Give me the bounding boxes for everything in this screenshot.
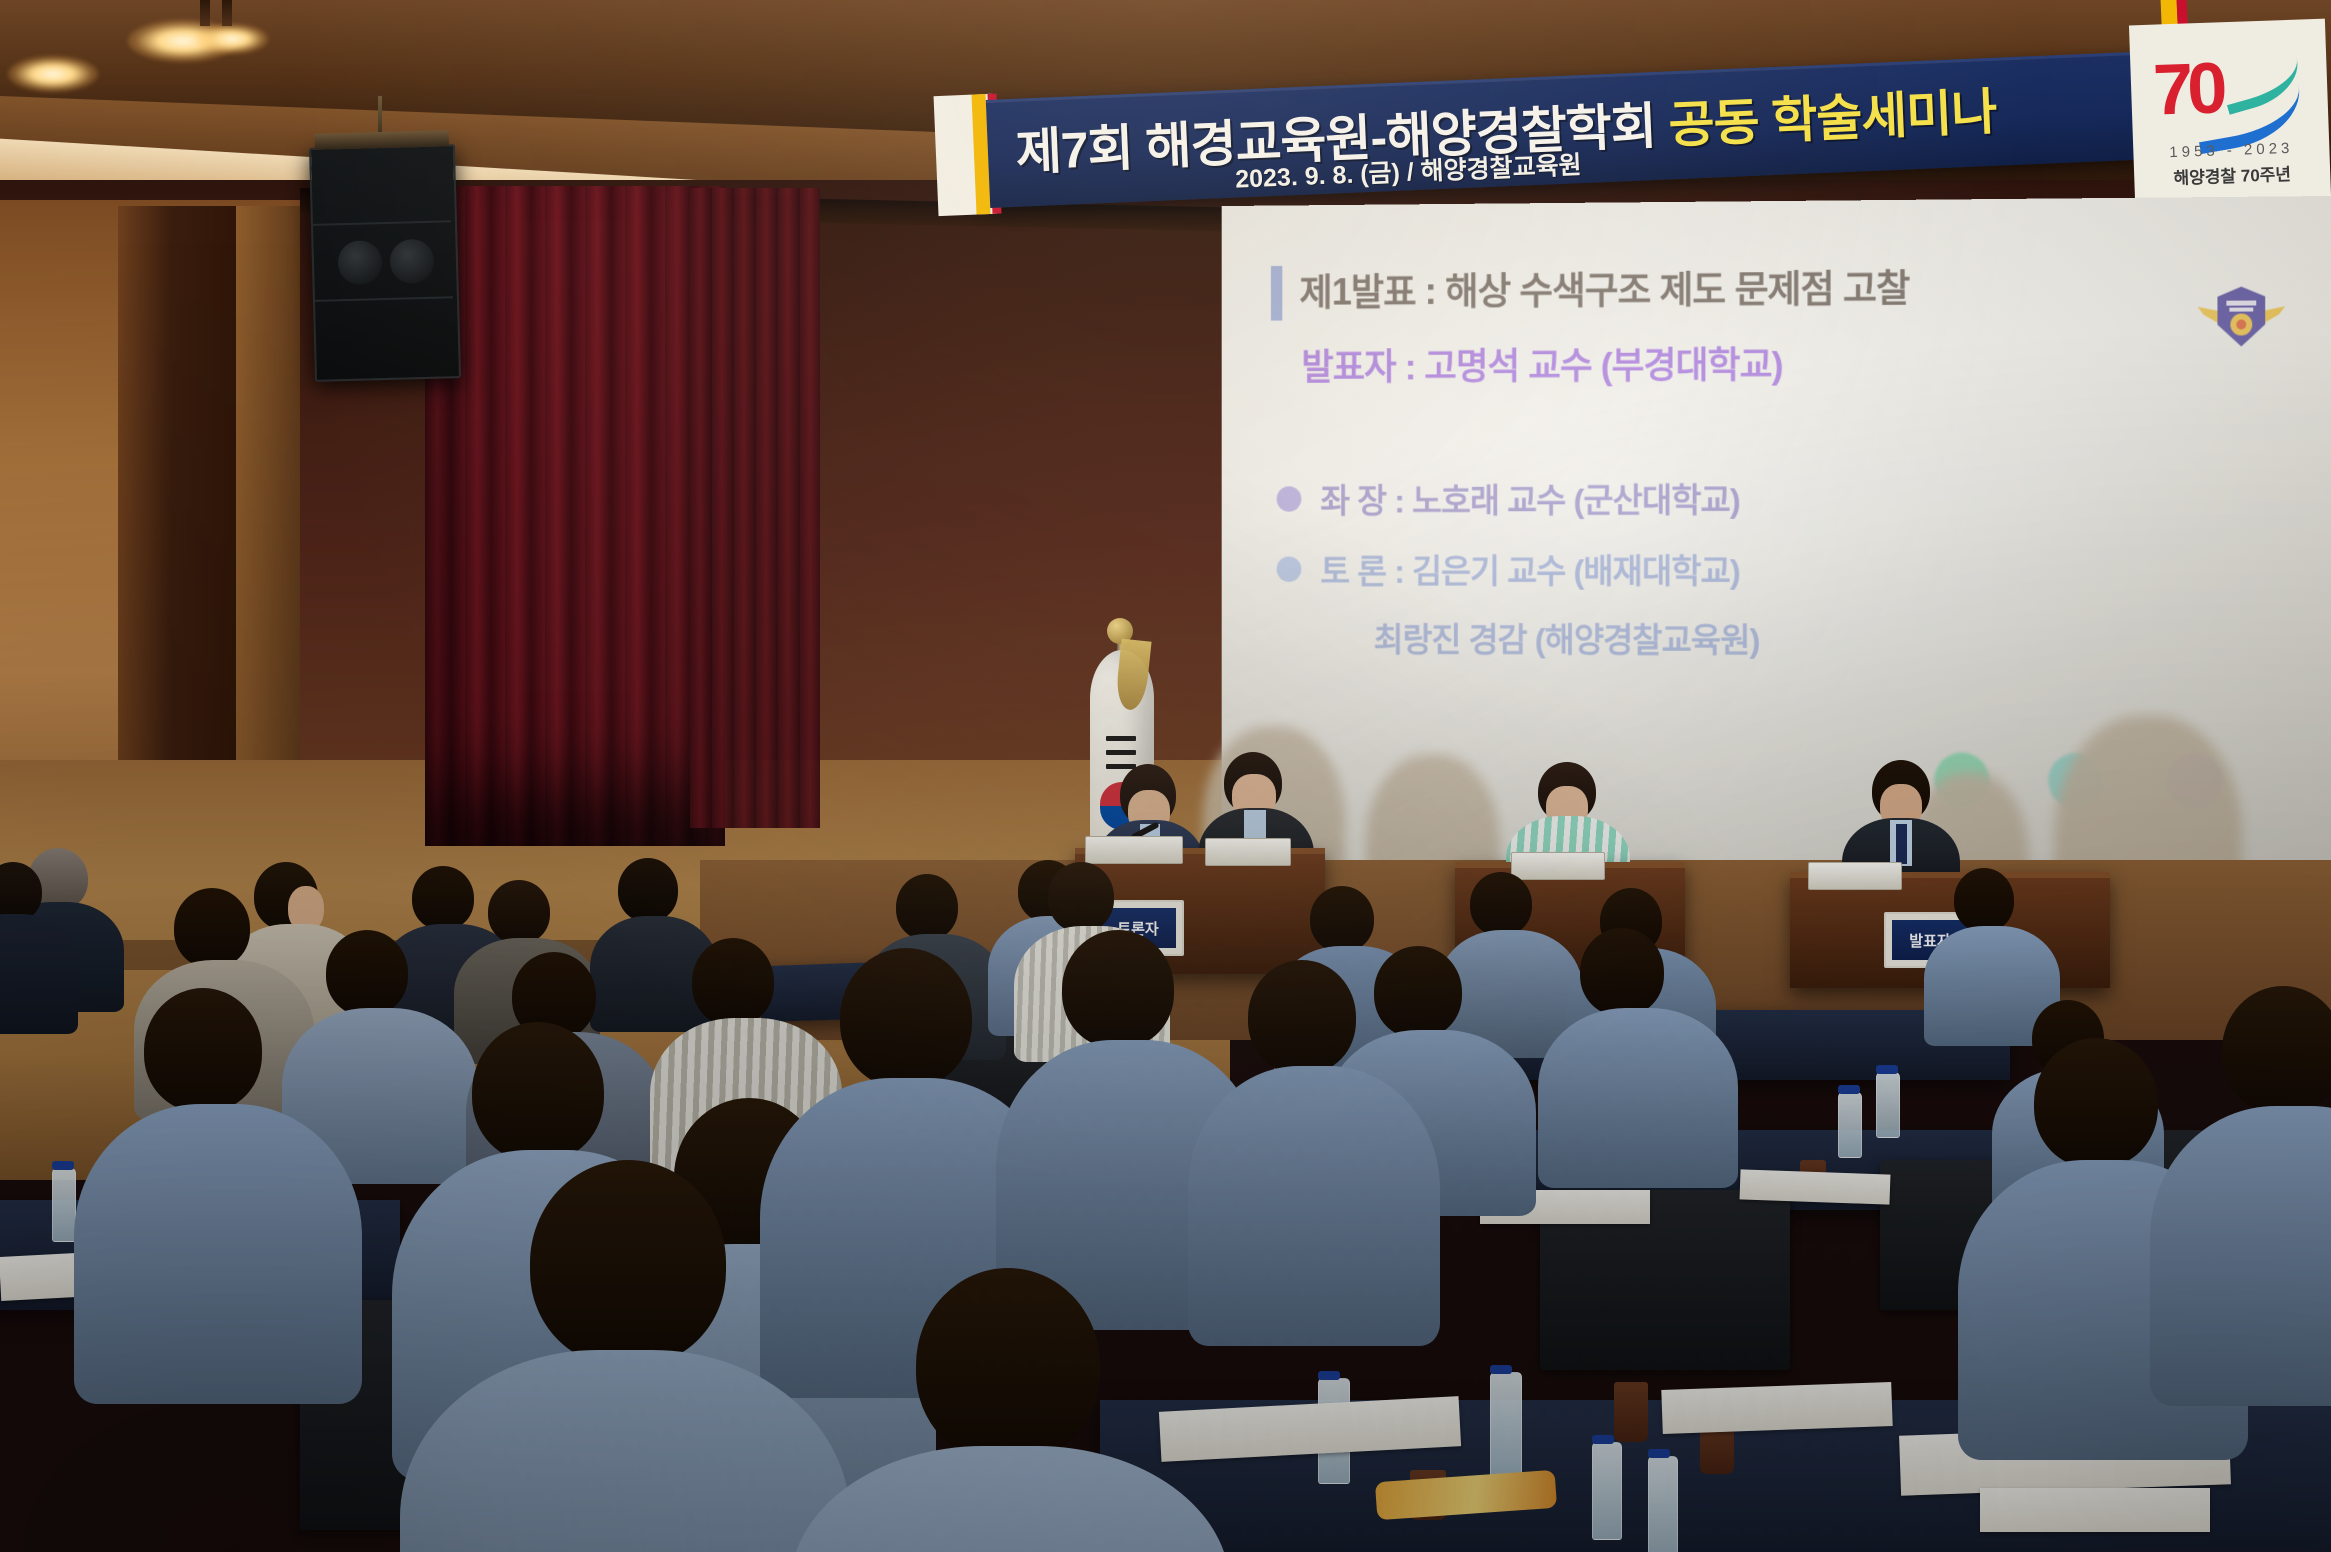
- water-bottle: [1592, 1442, 1622, 1540]
- slide-accent-bar: [1271, 266, 1282, 321]
- nameplate: [1808, 862, 1902, 890]
- nameplate: [1511, 852, 1605, 880]
- flag-trigram-bar: [1106, 736, 1136, 741]
- attendee-head: [472, 1022, 604, 1162]
- attendee-torso: [1538, 1008, 1738, 1188]
- water-bottle: [1838, 1092, 1862, 1158]
- paper-cup: [1614, 1382, 1648, 1442]
- bottle-cap: [1318, 1371, 1340, 1380]
- document: [1661, 1382, 1892, 1434]
- slide-bullet-chair: 좌 장 : 노호래 교수 (군산대학교): [1277, 473, 1740, 522]
- bullet-label: 최랑진 경감 (해양경찰교육원): [1374, 613, 1760, 662]
- speaker-cone-icon: [389, 239, 434, 284]
- stage-curtain: [690, 188, 820, 828]
- ceiling-downlight-icon: [196, 24, 268, 54]
- water-bottle: [1876, 1072, 1900, 1138]
- speaker-rib: [313, 220, 451, 226]
- attendee-head: [1374, 946, 1462, 1038]
- attendee-head: [1248, 960, 1356, 1074]
- bottle-cap: [1648, 1449, 1670, 1458]
- attendee-head: [1310, 886, 1374, 952]
- attendee-head: [488, 880, 550, 944]
- slide-presenter: 발표자 : 고명석 교수 (부경대학교): [1301, 335, 1782, 390]
- bottle-cap: [1592, 1435, 1614, 1444]
- water-bottle: [1490, 1372, 1522, 1482]
- attendee-head: [2034, 1038, 2158, 1168]
- anniversary-caption: 해양경찰 70주년: [2134, 159, 2331, 191]
- speaker-cone-icon: [337, 240, 382, 285]
- stage-curtain: [425, 186, 725, 846]
- attendee-head: [840, 948, 972, 1088]
- nameplate: [1205, 838, 1291, 866]
- attendee-head: [530, 1160, 726, 1366]
- attendee-head: [618, 858, 678, 922]
- attendee-head: [916, 1268, 1100, 1462]
- bullet-dot-icon: [1277, 486, 1302, 511]
- bottle-cap: [1490, 1365, 1512, 1374]
- attendee-head: [1580, 928, 1664, 1016]
- attendee-head: [144, 988, 262, 1112]
- anniversary-logo: 70 1953 - 2023 해양경찰 70주년: [2129, 19, 2331, 204]
- attendee-torso: [74, 1104, 362, 1404]
- bullet-label: 좌 장 : 노호래 교수 (군산대학교): [1320, 473, 1739, 522]
- seminar-hall-photo: 제7회 해경교육원-해양경찰학회 공동 학술세미나 2023. 9. 8. (금…: [0, 0, 2331, 1552]
- bullet-dot-icon: [1277, 556, 1302, 581]
- attendee-head: [692, 938, 774, 1026]
- water-bottle: [52, 1168, 76, 1242]
- attendee-torso: [1188, 1066, 1440, 1346]
- lamp-stem: [200, 0, 210, 26]
- attendee-head: [174, 888, 250, 968]
- banner-title-highlight: 공동 학술세미나: [1667, 84, 1997, 154]
- wall-column: [236, 206, 300, 826]
- bottle-cap: [52, 1161, 74, 1170]
- attendee-head: [412, 866, 474, 930]
- bullet-label: 토 론 : 김은기 교수 (배재대학교): [1320, 544, 1739, 592]
- slide-title: 제1발표 : 해상 수색구조 제도 문제점 고찰: [1299, 257, 1909, 315]
- water-bottle: [1648, 1456, 1678, 1552]
- speaker-rib: [315, 296, 453, 302]
- lamp-stem: [222, 0, 232, 26]
- document: [1740, 1169, 1891, 1204]
- attendee-head: [1470, 872, 1532, 936]
- bottle-cap: [1876, 1065, 1898, 1074]
- flag-trigram-bar: [1106, 750, 1136, 755]
- attendee-head: [1062, 930, 1174, 1048]
- attendee-head: [2222, 986, 2331, 1114]
- line-array-speaker: [309, 144, 461, 382]
- slide-bullet-discussant-2: 최랑진 경감 (해양경찰교육원): [1374, 613, 1760, 662]
- document: [1980, 1488, 2210, 1532]
- ceiling-downlight-icon: [8, 56, 98, 92]
- attendee-head: [1048, 862, 1114, 932]
- attendee-head: [1954, 868, 2014, 932]
- speaker-bracket: [315, 130, 449, 150]
- bottle-cap: [1838, 1085, 1860, 1094]
- nameplate: [1085, 836, 1183, 864]
- attendee-head: [896, 874, 958, 940]
- panelist-tie: [1896, 824, 1907, 864]
- attendee-head: [326, 930, 408, 1016]
- korea-coast-guard-emblem: [2196, 280, 2287, 358]
- wall-column: [118, 206, 236, 766]
- projection-screen: 제1발표 : 해상 수색구조 제도 문제점 고찰 발표자 : 고명석 교수 (부…: [1222, 196, 2331, 956]
- slide-bullet-discussant: 토 론 : 김은기 교수 (배재대학교): [1277, 544, 1740, 592]
